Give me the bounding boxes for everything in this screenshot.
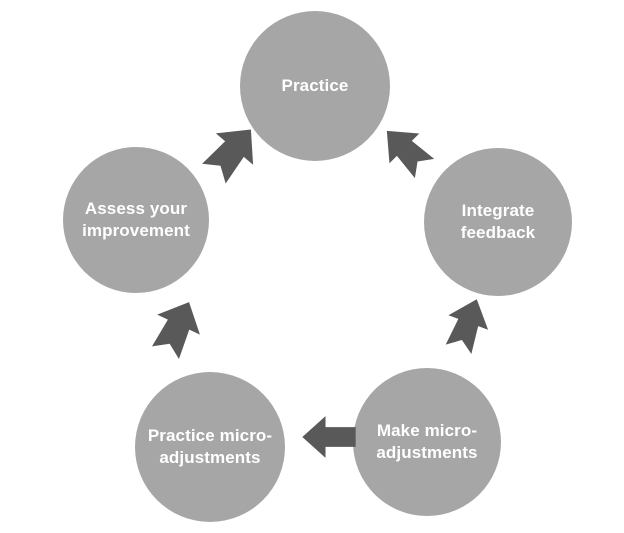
cycle-node-label: Integrate feedback — [461, 200, 536, 245]
cycle-diagram: Practice Integrate feedback Make micro- … — [0, 0, 624, 533]
arrow-down-left-icon — [436, 295, 498, 357]
cycle-node-assess-your-improvement[interactable]: Assess your improvement — [63, 147, 209, 293]
cycle-node-label: Practice — [282, 75, 349, 97]
arrow-right-down-icon — [376, 120, 438, 182]
cycle-node-label: Practice micro- adjustments — [148, 425, 272, 470]
arrow-up-right-icon — [146, 296, 208, 360]
cycle-node-label: Make micro- adjustments — [376, 420, 477, 465]
cycle-node-make-micro-adjustments[interactable]: Make micro- adjustments — [353, 368, 501, 516]
cycle-node-practice-micro-adjustments[interactable]: Practice micro- adjustments — [135, 372, 285, 522]
cycle-node-integrate-feedback[interactable]: Integrate feedback — [424, 148, 572, 296]
arrow-left-icon — [298, 408, 360, 466]
cycle-node-label: Assess your improvement — [82, 198, 190, 243]
arrow-up-right-icon — [200, 120, 264, 184]
